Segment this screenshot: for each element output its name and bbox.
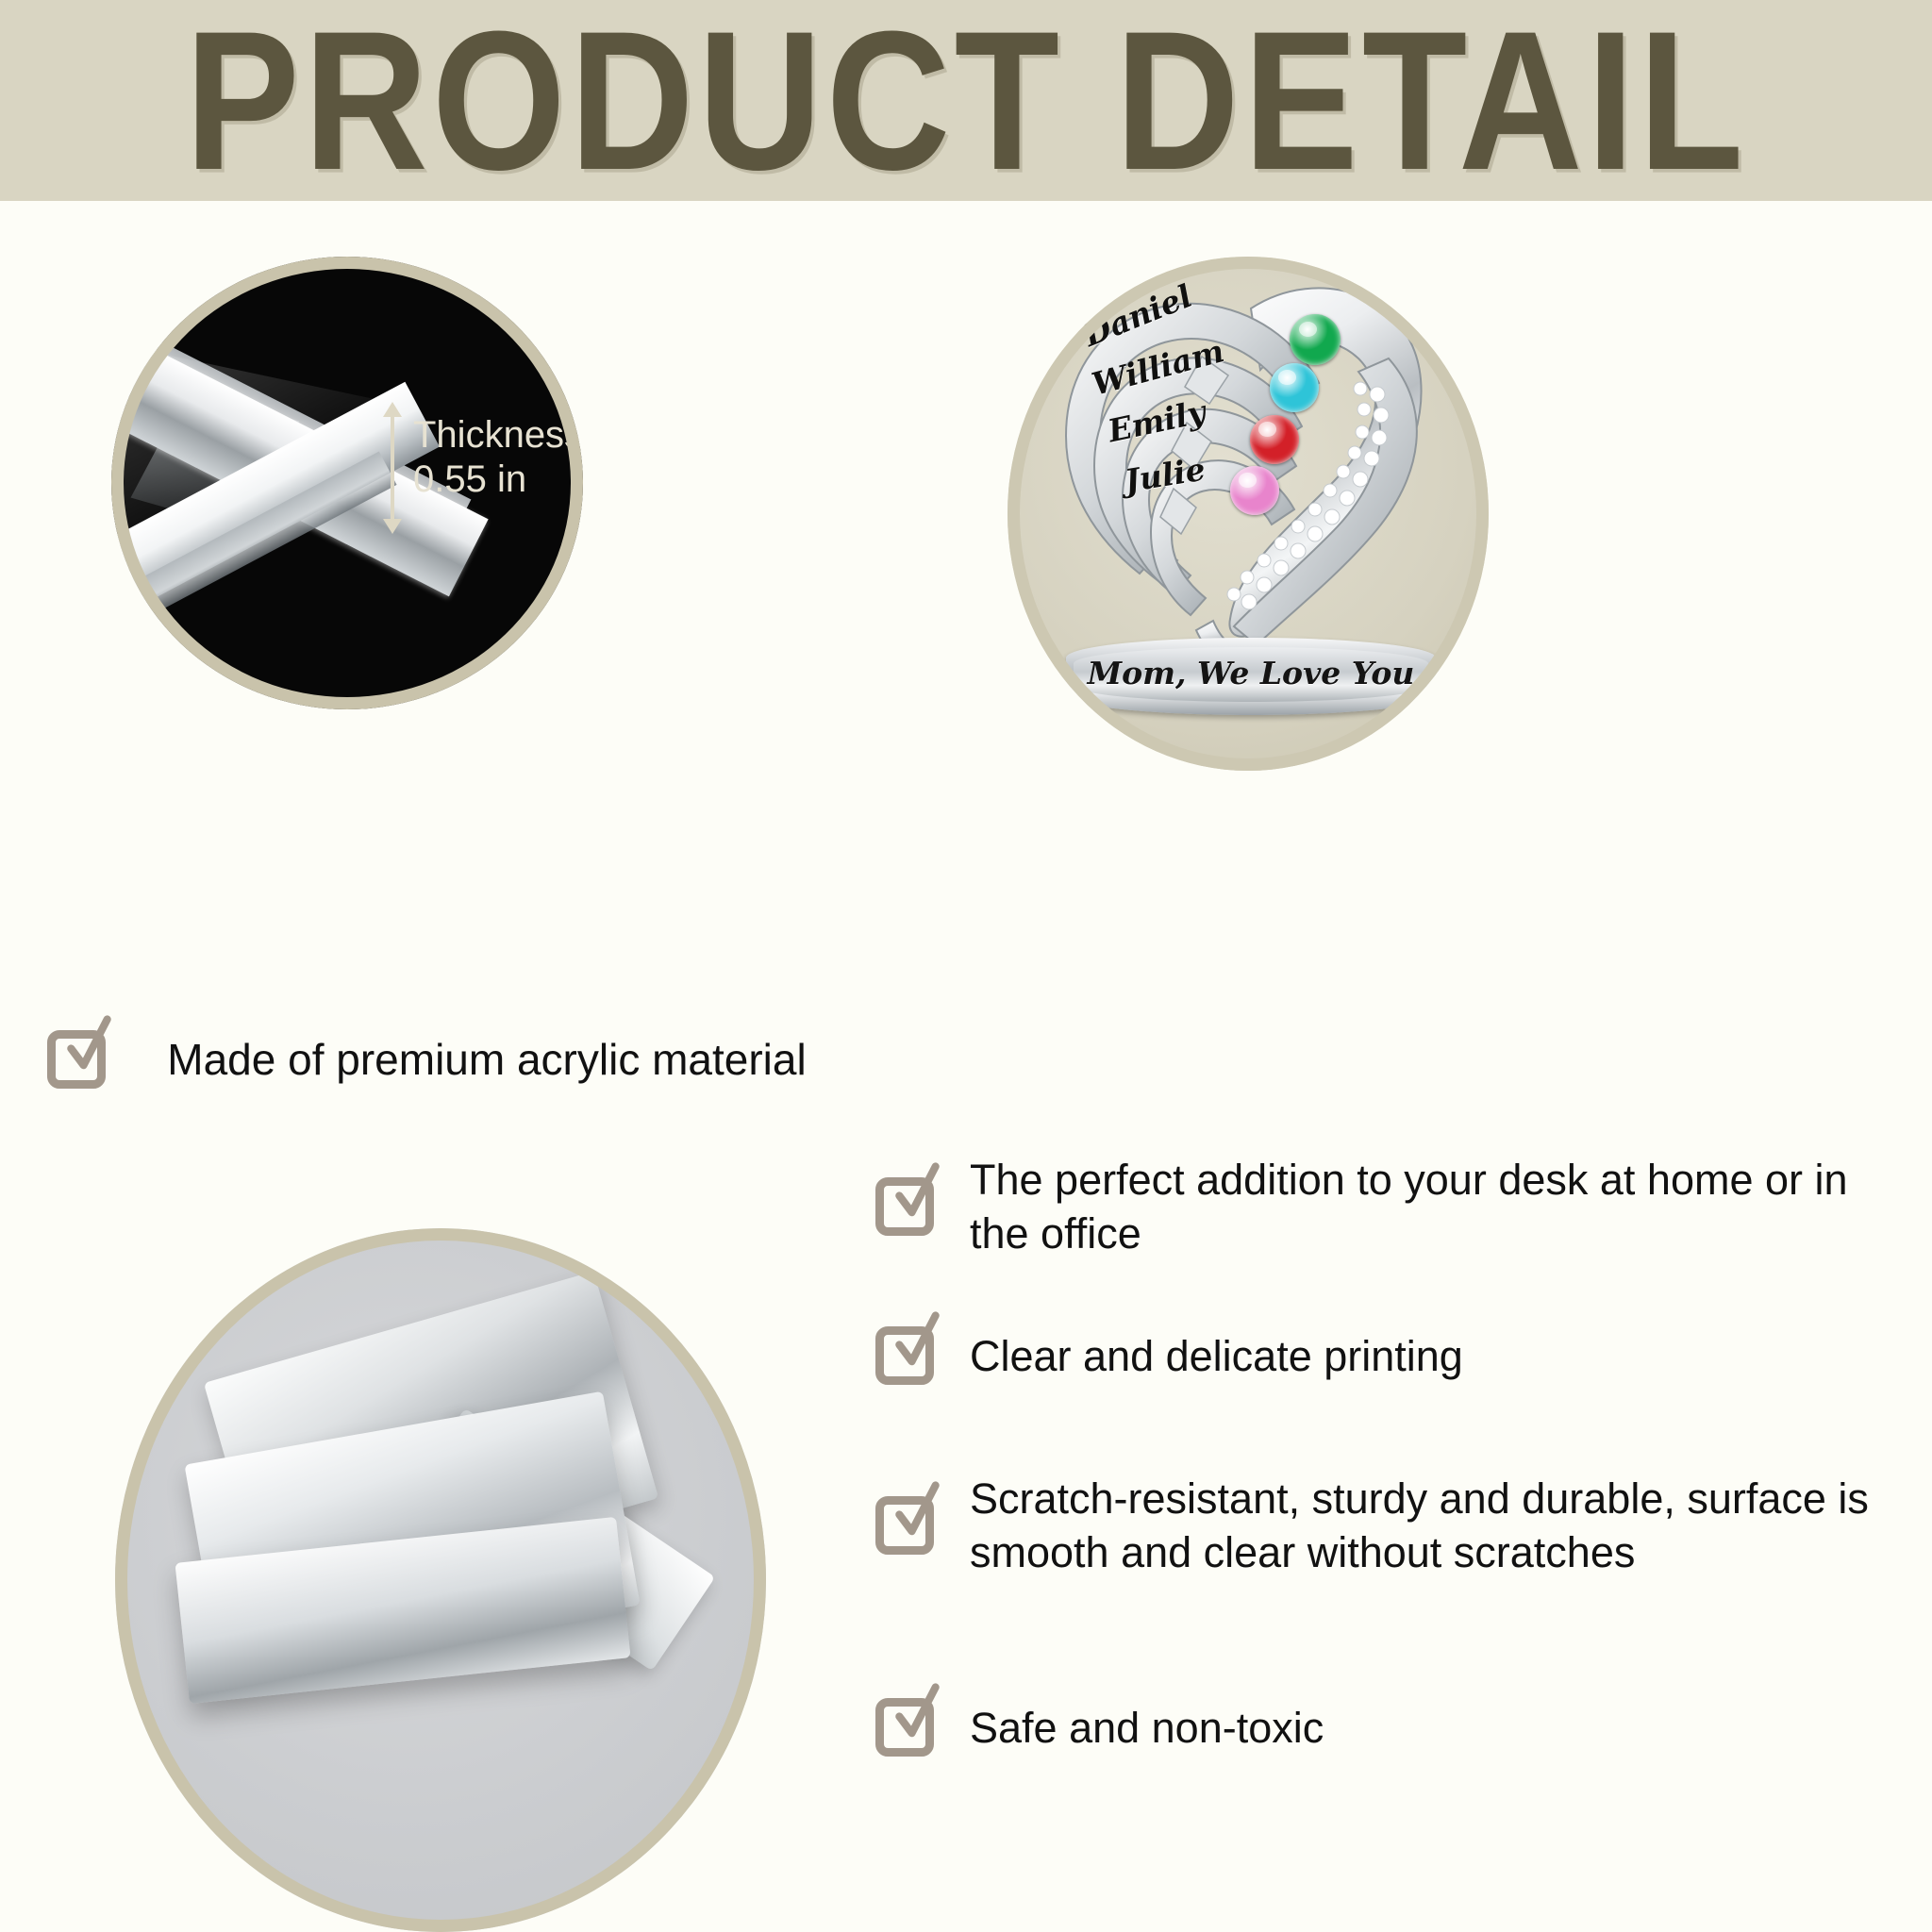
feature-item-material: Made of premium acrylic material: [47, 1030, 858, 1089]
feature-text: Clear and delicate printing: [934, 1329, 1463, 1383]
feature-text: Scratch-resistant, sturdy and durable, s…: [934, 1472, 1913, 1579]
pink-gem: [1230, 466, 1279, 515]
check-glyph-icon: [58, 1018, 118, 1076]
acrylic-edge-closeup-image: Thickness 0.55 in: [111, 257, 583, 709]
checkmark-icon: [875, 1177, 934, 1236]
checkmark-icon: [875, 1698, 934, 1757]
acrylic-sheets-image: [115, 1228, 766, 1932]
thickness-label: Thickness 0.55 in: [413, 413, 583, 502]
check-glyph-icon: [886, 1484, 946, 1542]
feature-text: Safe and non-toxic: [934, 1701, 1324, 1755]
thickness-arrow-icon: [391, 415, 394, 521]
page-title: PRODUCT DETAIL: [185, 2, 1747, 200]
base-engraving-text: Mom, We Love You: [1066, 655, 1436, 691]
turquoise-gem: [1270, 363, 1319, 412]
checkmark-icon: [875, 1326, 934, 1385]
ruby-red-gem: [1250, 415, 1299, 464]
checkmark-icon: [47, 1030, 106, 1089]
feature-item-safety: Safe and non-toxic: [875, 1698, 1913, 1757]
checkmark-icon: [875, 1496, 934, 1555]
header-band: PRODUCT DETAIL: [0, 0, 1932, 201]
check-glyph-icon: [886, 1165, 946, 1224]
ornament-base: Mom, We Love You: [1066, 638, 1436, 715]
feature-text: The perfect addition to your desk at hom…: [934, 1153, 1913, 1260]
heart-ornament-image: Daniel William Emily Julie Mom, We Love …: [1008, 257, 1489, 771]
feature-item-printing: Clear and delicate printing: [875, 1326, 1913, 1385]
check-glyph-icon: [886, 1686, 946, 1744]
emerald-green-gem: [1290, 314, 1341, 365]
feature-item-durability: Scratch-resistant, sturdy and durable, s…: [875, 1472, 1913, 1579]
feature-item-desk: The perfect addition to your desk at hom…: [875, 1153, 1913, 1260]
feature-text: Made of premium acrylic material: [106, 1032, 858, 1087]
check-glyph-icon: [886, 1314, 946, 1373]
